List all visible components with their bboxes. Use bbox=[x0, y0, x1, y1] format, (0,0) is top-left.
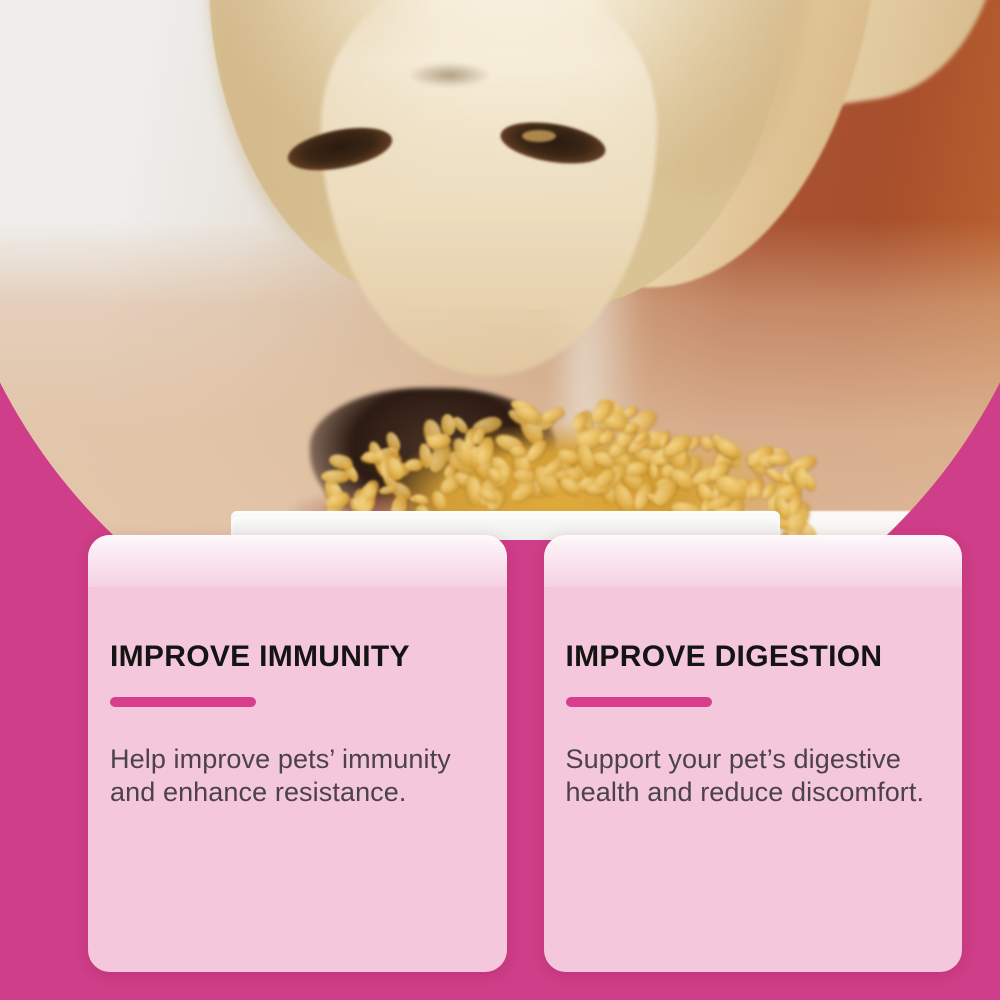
benefit-card-immunity[interactable]: IMPROVE IMMUNITY Help improve pets’ immu… bbox=[88, 535, 507, 972]
card-text-immunity: Help improve pets’ immunity and enhance … bbox=[110, 743, 477, 809]
card-accent-rule bbox=[566, 697, 712, 707]
kibble-piece bbox=[321, 470, 350, 483]
kibble-piece bbox=[764, 466, 786, 485]
benefit-card-digestion[interactable]: IMPROVE DIGESTION Support your pet’s dig… bbox=[544, 535, 963, 972]
card-accent-rule bbox=[110, 697, 256, 707]
card-text-digestion: Support your pet’s digestive health and … bbox=[566, 743, 933, 809]
kibble-piece bbox=[794, 467, 808, 490]
card-title-immunity: IMPROVE IMMUNITY bbox=[110, 640, 477, 673]
poster-canvas: IMPROVE IMMUNITY Help improve pets’ immu… bbox=[0, 0, 1000, 1000]
benefit-cards: IMPROVE IMMUNITY Help improve pets’ immu… bbox=[88, 535, 962, 972]
card-body: IMPROVE DIGESTION Support your pet’s dig… bbox=[544, 535, 963, 809]
card-title-digestion: IMPROVE DIGESTION bbox=[566, 640, 933, 673]
card-body: IMPROVE IMMUNITY Help improve pets’ immu… bbox=[88, 535, 507, 809]
dog-brow-icon bbox=[410, 63, 488, 88]
